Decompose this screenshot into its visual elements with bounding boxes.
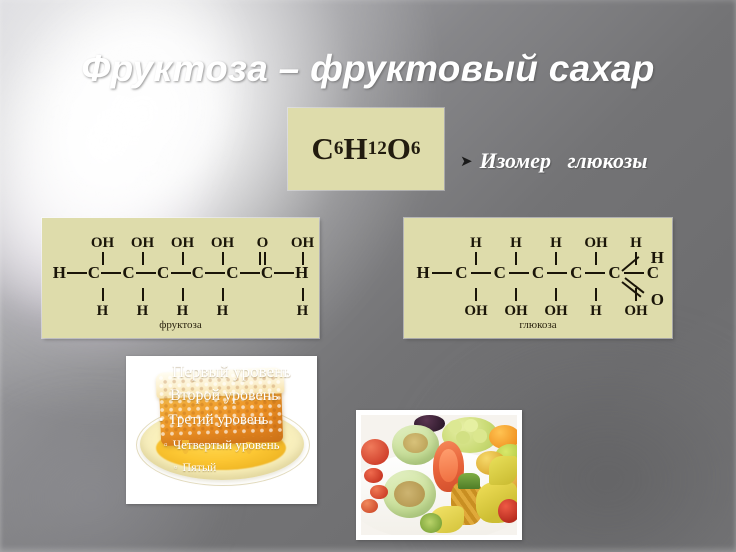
placeholder-line-1: Первый уровень [172, 362, 291, 382]
glucose-caption: глюкоза [404, 319, 672, 331]
fructose-bottom-substituents: H H H H H [42, 303, 341, 319]
formula-hydrogen-count: 12 [368, 138, 387, 160]
berry [364, 468, 383, 484]
placeholder-line-3: ▪Третий уровень [159, 412, 268, 429]
fructose-top-4: OH [203, 235, 243, 251]
placeholder-line-2: Второй уровень [170, 387, 278, 405]
glucose-top-1: H [456, 235, 496, 251]
molecular-formula-box: C6H12O6 [288, 108, 444, 190]
honeycomb-photo: Первый уровень Второй уровень ▪Третий ур… [126, 356, 317, 504]
placeholder-bullet-4: ▫ [164, 440, 168, 451]
glucose-bottom-1: OH [456, 303, 496, 319]
berry [370, 485, 387, 499]
fructose-bottom-2: H [123, 303, 163, 319]
formula-hydrogen: H [343, 131, 367, 167]
glucose-bottom-4: H [576, 303, 616, 319]
fructose-top-3: OH [163, 235, 203, 251]
placeholder-line-5-label: Пятый [182, 460, 216, 474]
kiwi [420, 513, 442, 532]
fruit-illustration [361, 415, 517, 535]
placeholder-bullet-5: ▫ [174, 462, 177, 473]
fructose-top-2: OH [123, 235, 163, 251]
glucose-bottom-3: OH [536, 303, 576, 319]
pineapple-leaves [458, 473, 480, 490]
formula-carbon: C [311, 131, 333, 167]
fructose-backbone: H C C C C C C H [42, 264, 319, 282]
structural-formula-fructose: OH OH OH OH O OH H C C [42, 218, 319, 338]
placeholder-line-3-label: Третий уровень [168, 412, 268, 428]
fructose-bottom-5 [243, 303, 283, 319]
fructose-bottom-4: H [203, 303, 243, 319]
aldehyde-single-bond [621, 256, 639, 272]
glucose-top-3: H [536, 235, 576, 251]
glucose-top-2: H [496, 235, 536, 251]
bullet-list-item: ➤ Изомер глюкозы [460, 148, 648, 174]
arrow-bullet-icon: ➤ [460, 154, 473, 169]
placeholder-line-5: ▫Пятый [174, 460, 216, 475]
glucose-top-substituents: H H H OH H [404, 235, 730, 251]
glucose-top-4: OH [576, 235, 616, 251]
fructose-chain: OH OH OH OH O OH H C C [42, 218, 319, 338]
placeholder-line-4: ▫Четвертый уровень [164, 437, 280, 453]
glucose-chain: H H H OH H H C C C [404, 218, 672, 338]
placeholder-outline-text: Первый уровень Второй уровень ▪Третий ур… [126, 356, 317, 504]
placeholder-line-4-label: Четвертый уровень [173, 437, 280, 452]
fructose-top-5: O [243, 235, 283, 251]
slide-title: Фруктоза – фруктовый сахар [0, 48, 736, 90]
bullet-item-label: Изомер глюкозы [480, 148, 648, 174]
papaya-flesh [439, 449, 458, 483]
berries-right [498, 499, 517, 523]
molecular-formula-text: C6H12O6 [288, 108, 444, 190]
fructose-top-1: OH [83, 235, 123, 251]
fructose-bottom-3: H [163, 303, 203, 319]
glucose-bottom-substituents: OH OH OH H OH [404, 303, 730, 319]
starfruit [489, 456, 517, 485]
fruit-platter-photo [356, 410, 522, 540]
formula-oxygen-count: 6 [411, 138, 421, 160]
presentation-slide: Фруктоза – фруктовый сахар C6H12O6 ➤ Изо… [0, 0, 736, 552]
glucose-aldehyde-group: H O [614, 248, 666, 310]
aldehyde-oxygen: O [651, 290, 664, 310]
placeholder-bullet-3: ▪ [159, 412, 163, 427]
grape [456, 431, 470, 444]
formula-carbon-count: 6 [334, 138, 344, 160]
fructose-bottom-6: H [283, 303, 323, 319]
fructose-caption: фруктоза [42, 319, 319, 331]
glucose-bottom-2: OH [496, 303, 536, 319]
fructose-top-6: OH [283, 235, 323, 251]
structural-formula-glucose: H H H OH H H C C C [404, 218, 672, 338]
grape [473, 429, 487, 442]
fructose-top-substituents: OH OH OH OH O OH [42, 235, 341, 251]
fructose-bottom-1: H [83, 303, 123, 319]
formula-oxygen: O [387, 131, 411, 167]
aldehyde-hydrogen: H [651, 248, 664, 268]
